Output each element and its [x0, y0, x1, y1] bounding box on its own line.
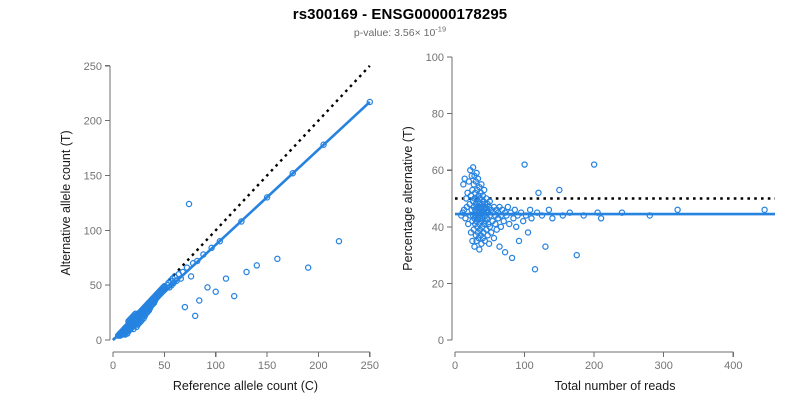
- data-point: [336, 239, 341, 244]
- data-point: [532, 267, 537, 272]
- data-point: [193, 313, 198, 318]
- x-tick-label-right-2: 200: [585, 360, 603, 372]
- data-point: [477, 247, 482, 252]
- data-point: [502, 250, 507, 255]
- data-point: [232, 294, 237, 299]
- x-tick-label-left-3: 150: [258, 360, 276, 372]
- data-point: [275, 256, 280, 261]
- y-tick-label-left-2: 100: [84, 225, 102, 237]
- data-point: [536, 190, 541, 195]
- x-tick-label-right-1: 100: [515, 360, 533, 372]
- data-point: [306, 265, 311, 270]
- panel-left: 050100150200250050100150200250Reference …: [59, 61, 379, 393]
- y-tick-label-left-1: 50: [90, 280, 102, 292]
- x-tick-label-left-5: 250: [361, 360, 379, 372]
- figure-subtitle: p-value: 3.56× 10-19: [0, 27, 800, 39]
- y-tick-label-right-5: 100: [426, 52, 444, 64]
- data-point: [498, 224, 503, 229]
- data-point: [505, 204, 510, 209]
- data-point: [501, 219, 506, 224]
- y-tick-label-right-2: 40: [432, 222, 444, 234]
- figure-root: rs300169 - ENSG00000178295 p-value: 3.56…: [0, 0, 800, 400]
- y-tick-label-right-1: 20: [432, 278, 444, 290]
- data-point: [516, 238, 521, 243]
- y-axis-title-right: Percentage alternative (T): [401, 126, 415, 271]
- x-tick-label-left-0: 0: [110, 360, 116, 372]
- x-tick-label-right-3: 300: [655, 360, 673, 372]
- data-point: [482, 187, 487, 192]
- data-point: [188, 274, 193, 279]
- data-point: [528, 207, 533, 212]
- x-tick-label-right-4: 400: [724, 360, 742, 372]
- y-tick-label-left-0: 0: [96, 335, 102, 347]
- data-point: [186, 201, 191, 206]
- p-value-exponent: -19: [435, 25, 446, 34]
- data-point: [574, 253, 579, 258]
- data-point: [546, 207, 551, 212]
- data-point: [529, 216, 534, 221]
- data-point: [213, 289, 218, 294]
- data-point: [512, 207, 517, 212]
- data-point: [762, 207, 767, 212]
- data-point: [244, 269, 249, 274]
- x-tick-label-left-4: 200: [309, 360, 327, 372]
- data-point: [254, 263, 259, 268]
- y-axis-title-left: Alternative allele count (T): [59, 130, 73, 275]
- data-point: [525, 230, 530, 235]
- data-point: [592, 162, 597, 167]
- data-point: [486, 241, 491, 246]
- x-axis-title-right: Total number of reads: [555, 379, 676, 393]
- panel-right: 0204060801000100200300400Total number of…: [401, 52, 775, 393]
- data-point: [182, 304, 187, 309]
- p-value-text: p-value: 3.56× 10: [354, 27, 435, 39]
- data-point: [675, 207, 680, 212]
- data-point: [223, 276, 228, 281]
- data-point: [521, 219, 526, 224]
- points-right: [459, 162, 768, 272]
- data-point: [598, 216, 603, 221]
- data-point: [485, 233, 490, 238]
- data-point: [557, 187, 562, 192]
- x-tick-label-left-2: 100: [207, 360, 225, 372]
- x-tick-label-right-0: 0: [452, 360, 458, 372]
- y-tick-label-right-4: 80: [432, 109, 444, 121]
- y-tick-label-left-5: 250: [84, 61, 102, 73]
- data-point: [550, 216, 555, 221]
- data-point: [514, 224, 519, 229]
- data-point: [491, 236, 496, 241]
- figure-title: rs300169 - ENSG00000178295: [0, 6, 800, 23]
- data-point: [497, 244, 502, 249]
- data-point: [205, 285, 210, 290]
- x-axis-title-left: Reference allele count (C): [173, 379, 318, 393]
- data-point: [489, 230, 494, 235]
- y-tick-label-right-3: 60: [432, 165, 444, 177]
- y-tick-label-left-3: 150: [84, 170, 102, 182]
- y-tick-label-left-4: 200: [84, 116, 102, 128]
- data-point: [507, 221, 512, 226]
- data-point: [184, 265, 189, 270]
- data-point: [509, 255, 514, 260]
- x-tick-label-left-1: 50: [158, 360, 170, 372]
- data-point: [479, 241, 484, 246]
- y-tick-label-right-0: 0: [438, 335, 444, 347]
- plot-canvas: 050100150200250050100150200250Reference …: [0, 0, 800, 400]
- data-point: [522, 162, 527, 167]
- data-point: [197, 298, 202, 303]
- data-point: [461, 182, 466, 187]
- data-point: [543, 244, 548, 249]
